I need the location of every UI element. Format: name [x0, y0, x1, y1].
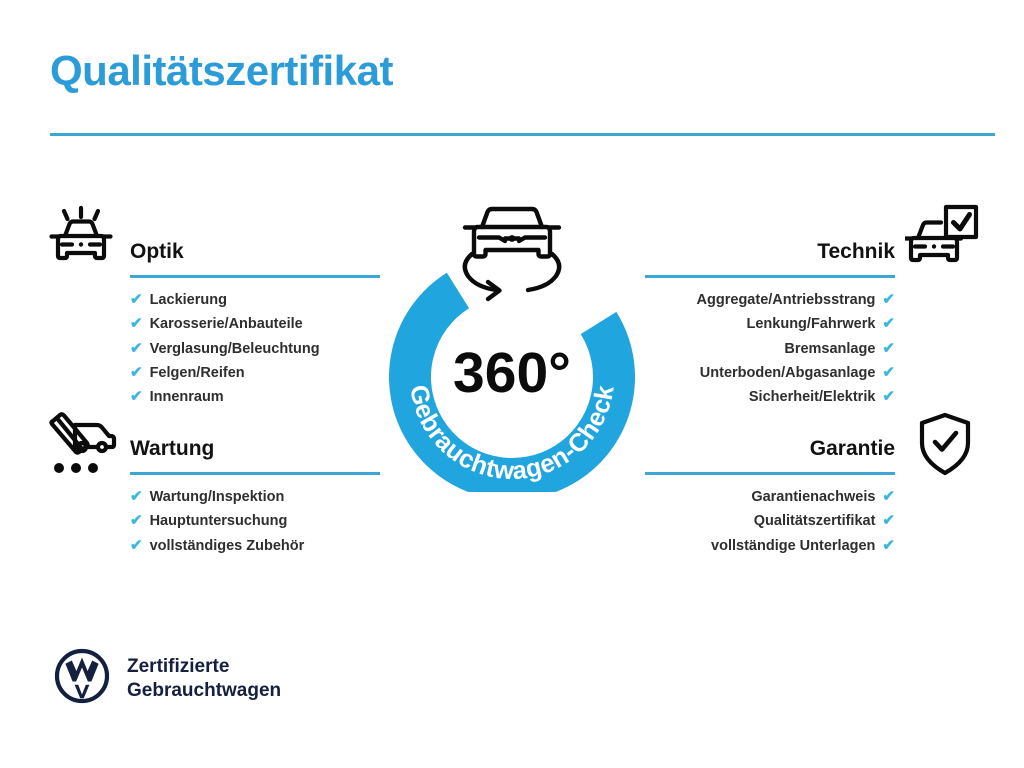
list-item: ✔Hauptuntersuchung [130, 509, 380, 533]
list-item-label: Sicherheit/Elektrik [749, 385, 876, 409]
car-dipstick-oil-icon [45, 412, 117, 485]
section-optik-header: Optik [130, 238, 380, 278]
check-icon: ✔ [130, 538, 143, 553]
list-item: vollständige Unterlagen✔ [645, 534, 895, 558]
section-optik-rule [130, 275, 380, 278]
section-garantie-list: Garantienachweis✔ Qualitätszertifikat✔ v… [645, 485, 895, 558]
shield-check-icon [918, 412, 972, 481]
list-item-label: Verglasung/Beleuchtung [150, 337, 320, 361]
list-item-label: Garantienachweis [751, 485, 875, 509]
title-divider [50, 133, 995, 136]
page-title: Qualitätszertifikat [50, 50, 393, 92]
check-icon: ✔ [130, 292, 143, 307]
list-item-label: Qualitätszertifikat [754, 509, 876, 533]
list-item: Unterboden/Abgasanlage✔ [645, 361, 895, 385]
list-item-label: Karosserie/Anbauteile [150, 312, 303, 336]
check-icon: ✔ [130, 513, 143, 528]
list-item-label: Lenkung/Fahrwerk [747, 312, 876, 336]
section-garantie-title: Garantie [645, 435, 895, 463]
list-item: Sicherheit/Elektrik✔ [645, 385, 895, 409]
check-icon: ✔ [882, 365, 895, 380]
footer-brand: ZertifizierteGebrauchtwagen [54, 648, 281, 709]
list-item: ✔Verglasung/Beleuchtung [130, 337, 380, 361]
list-item: ✔Lackierung [130, 288, 380, 312]
check-icon: ✔ [130, 316, 143, 331]
list-item-label: vollständige Unterlagen [711, 534, 875, 558]
car-shine-icon [45, 203, 117, 280]
list-item: ✔Felgen/Reifen [130, 361, 380, 385]
vw-logo [54, 648, 110, 709]
list-item-label: Wartung/Inspektion [150, 485, 285, 509]
check-icon: ✔ [130, 489, 143, 504]
list-item-label: Unterboden/Abgasanlage [700, 361, 876, 385]
check-icon: ✔ [882, 538, 895, 553]
section-wartung-title: Wartung [130, 435, 380, 463]
list-item-label: Hauptuntersuchung [150, 509, 288, 533]
badge-center-label: 360° [453, 341, 571, 405]
footer-line-1: Zertifizierte [127, 656, 229, 677]
section-wartung-rule [130, 472, 380, 475]
section-garantie-header: Garantie [645, 435, 895, 475]
check-icon: ✔ [130, 341, 143, 356]
check-icon: ✔ [882, 341, 895, 356]
section-optik-title: Optik [130, 238, 380, 266]
footer-line-2: Gebrauchtwagen [127, 680, 281, 701]
list-item-label: Bremsanlage [784, 337, 875, 361]
footer-brand-text: ZertifizierteGebrauchtwagen [127, 655, 281, 703]
list-item: Garantienachweis✔ [645, 485, 895, 509]
section-wartung: Wartung ✔Wartung/Inspektion ✔Hauptunters… [130, 435, 380, 558]
section-wartung-header: Wartung [130, 435, 380, 475]
badge-360-gebrauchtwagen-check: Gebrauchtwagen-Check 360° [372, 192, 652, 492]
list-item-label: Innenraum [150, 385, 224, 409]
section-technik-rule [645, 275, 895, 278]
list-item: Qualitätszertifikat✔ [645, 509, 895, 533]
list-item: Aggregate/Antriebsstrang✔ [645, 288, 895, 312]
check-icon: ✔ [882, 489, 895, 504]
check-icon: ✔ [130, 365, 143, 380]
list-item: ✔vollständiges Zubehör [130, 534, 380, 558]
section-technik: Technik Aggregate/Antriebsstrang✔ Lenkun… [645, 238, 895, 409]
list-item-label: Felgen/Reifen [150, 361, 245, 385]
check-icon: ✔ [882, 389, 895, 404]
section-technik-list: Aggregate/Antriebsstrang✔ Lenkung/Fahrwe… [645, 288, 895, 409]
check-icon: ✔ [882, 292, 895, 307]
car-rotate-360-icon [465, 209, 559, 299]
list-item-label: Aggregate/Antriebsstrang [697, 288, 876, 312]
section-optik-list: ✔Lackierung ✔Karosserie/Anbauteile ✔Verg… [130, 288, 380, 409]
list-item: ✔Karosserie/Anbauteile [130, 312, 380, 336]
list-item: Bremsanlage✔ [645, 337, 895, 361]
check-icon: ✔ [882, 513, 895, 528]
section-garantie-rule [645, 472, 895, 475]
section-optik: Optik ✔Lackierung ✔Karosserie/Anbauteile… [130, 238, 380, 409]
section-garantie: Garantie Garantienachweis✔ Qualitätszert… [645, 435, 895, 558]
list-item-label: vollständiges Zubehör [150, 534, 305, 558]
section-technik-title: Technik [645, 238, 895, 266]
check-icon: ✔ [882, 316, 895, 331]
check-icon: ✔ [130, 389, 143, 404]
list-item: Lenkung/Fahrwerk✔ [645, 312, 895, 336]
list-item: ✔Innenraum [130, 385, 380, 409]
car-checkbox-icon [905, 203, 979, 280]
list-item: ✔Wartung/Inspektion [130, 485, 380, 509]
list-item-label: Lackierung [150, 288, 227, 312]
section-wartung-list: ✔Wartung/Inspektion ✔Hauptuntersuchung ✔… [130, 485, 380, 558]
section-technik-header: Technik [645, 238, 895, 278]
